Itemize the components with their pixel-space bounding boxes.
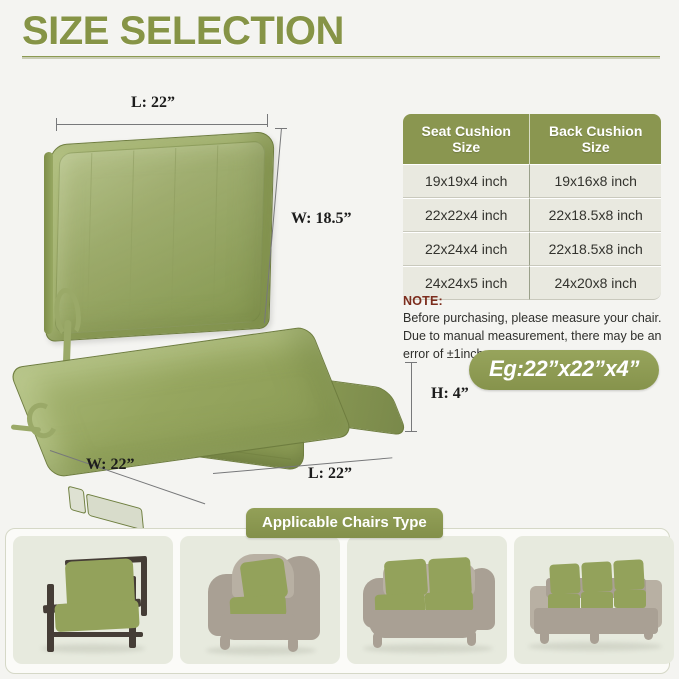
chair-stretcher — [47, 632, 143, 637]
back-length-tick-right — [267, 114, 268, 127]
example-size-badge: Eg:22”x22”x4” — [469, 350, 659, 390]
back-cushion-inner-seam — [55, 141, 266, 335]
table-cell-back-size: 19x16x8 inch — [530, 164, 661, 198]
note-title: NOTE: — [403, 294, 665, 308]
table-header-row: Seat Cushion Size Back Cushion Size — [403, 114, 661, 164]
sofa-back-cushion-2 — [581, 561, 613, 593]
wicker-base — [220, 614, 296, 640]
seat-cushion-handle-slot — [68, 486, 86, 515]
seat-cushion-illustration — [22, 315, 392, 475]
table-header-back-cushion: Back Cushion Size — [530, 114, 661, 164]
wicker-base — [369, 610, 479, 638]
table-cell-back-size: 22x18.5x8 inch — [530, 232, 661, 266]
page-title: SIZE SELECTION — [22, 10, 344, 52]
back-length-label: L: 22” — [131, 94, 175, 112]
wicker-leg-left — [220, 634, 230, 650]
chair-card-wicker-loveseat[interactable] — [347, 536, 507, 664]
sofa-back-cushion-3 — [613, 559, 645, 591]
table-row: 22x22x4 inch 22x18.5x8 inch — [403, 198, 661, 232]
sofa-seat-cushion-3 — [614, 590, 646, 608]
size-table: Seat Cushion Size Back Cushion Size 19x1… — [403, 114, 661, 300]
chair-leg-front-left — [47, 584, 54, 652]
sofa-back-cushion-left — [384, 559, 428, 598]
chair-card-wicker-three-seat-sofa[interactable] — [514, 536, 674, 664]
wicker-leg-right — [288, 636, 298, 652]
wicker-leg-left — [373, 632, 382, 648]
chair-card-wicker-barrel-armchair[interactable] — [180, 536, 340, 664]
wicker-leg-right — [644, 626, 653, 640]
table-header-seat-cushion: Seat Cushion Size — [403, 114, 530, 164]
table-row: 19x19x4 inch 19x16x8 inch — [403, 164, 661, 198]
applicable-chairs-container — [5, 528, 670, 674]
seat-height-label: H: 4” — [431, 385, 469, 403]
seat-width-label: W: 22” — [86, 456, 134, 474]
wicker-leg-center — [590, 630, 599, 644]
sofa-back-cushion-1 — [549, 563, 581, 595]
wicker-leg-left — [540, 630, 549, 644]
title-divider — [22, 56, 660, 59]
table-cell-seat-size: 22x24x4 inch — [403, 232, 530, 266]
applicable-chairs-row — [13, 536, 674, 664]
back-width-tick-top — [275, 128, 287, 129]
wicker-leg-right — [467, 630, 476, 646]
chair-card-metal-frame-armchair[interactable] — [13, 536, 173, 664]
seat-height-dimension-line — [411, 362, 412, 432]
back-length-tick-left — [56, 118, 57, 131]
seat-length-label: L: 22” — [308, 465, 352, 483]
table-cell-seat-size: 22x22x4 inch — [403, 198, 530, 232]
back-length-dimension-line — [56, 124, 268, 125]
back-width-label: W: 18.5” — [291, 210, 351, 228]
table-row: 22x24x4 inch 22x18.5x8 inch — [403, 232, 661, 266]
table-cell-seat-size: 19x19x4 inch — [403, 164, 530, 198]
chair-leg-back-right — [141, 558, 147, 616]
seat-cushion-handle — [86, 493, 144, 530]
cushion-diagram: L: 22” W: 18.5” H: 4” W: 22” L: 22” — [0, 70, 400, 510]
applicable-chairs-tab: Applicable Chairs Type — [246, 508, 443, 538]
chair-seat-cushion — [54, 600, 139, 632]
page-header: SIZE SELECTION — [0, 0, 679, 70]
seat-height-tick-bottom — [405, 431, 417, 432]
table-cell-back-size: 22x18.5x8 inch — [530, 198, 661, 232]
size-table-container: Seat Cushion Size Back Cushion Size 19x1… — [403, 114, 661, 300]
